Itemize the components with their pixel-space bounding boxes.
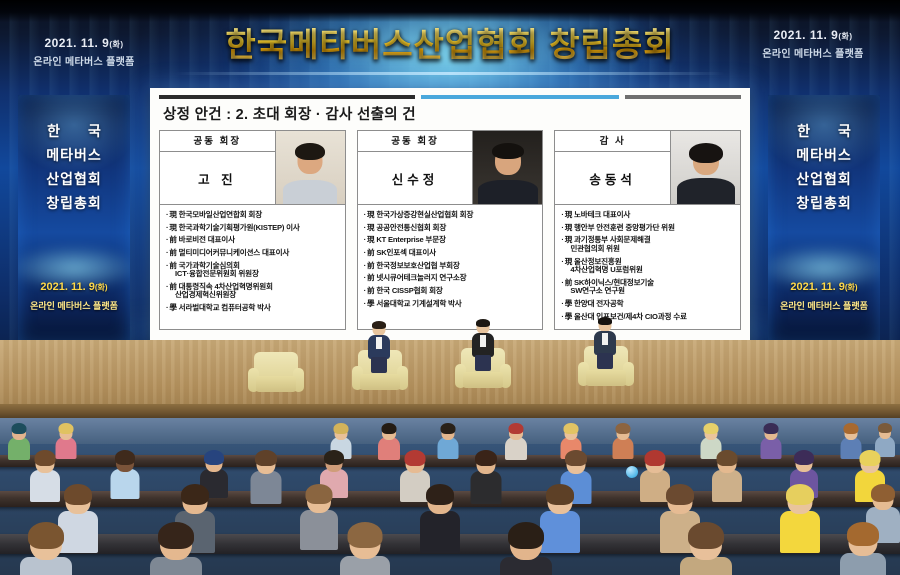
card-bullet-item: ·學 한양대 전자공학 <box>561 300 735 309</box>
card-bullet-item: ·現 KT Enterprise 부문장 <box>364 236 538 245</box>
audience-avatar <box>378 425 400 463</box>
banner-line-4: 창립총회 <box>768 193 880 213</box>
platform-text: 온라인 메타버스 플랫폼 <box>748 45 878 60</box>
banner-line-3: 산업협회 <box>18 169 130 189</box>
banner-line-1: 한 국 <box>768 121 880 141</box>
card-bullet-item: ·前 한국 CISSP협회 회장 <box>364 287 538 296</box>
audience-avatar <box>505 425 527 463</box>
side-banner-right: 한 국 메타버스 산업협회 창립총회 2021. 11. 9(화) 온라인 메타… <box>768 95 880 345</box>
card-bullet-item: ·前 SK하이닉스/현대정보기술SW연구소 연구원 <box>561 279 735 296</box>
stage-panelist-avatar <box>468 320 498 372</box>
card-bullet-item: ·前 넷시큐어테크놀러지 연구소장 <box>364 274 538 283</box>
audience-avatar <box>420 486 460 556</box>
card-bullet-list: ·現 한국가상증강현실산업협회 회장·現 공공안전통신협회 회장·現 KT En… <box>358 205 543 317</box>
card-header: 공동 회장신수정 <box>358 131 543 205</box>
card-portrait-photo <box>275 131 345 204</box>
candidate-card: 감 사송동석·現 노바테크 대표이사·現 행안부 안전훈련 중앙평가단 위원·現… <box>554 130 741 330</box>
audience-avatar <box>8 425 30 463</box>
stage-panelist-avatar <box>590 318 620 370</box>
slide-top-rule <box>159 95 741 99</box>
card-label-block: 공동 회장고 진 <box>160 131 275 204</box>
card-bullet-list: ·現 한국모바일산업연합회 회장·現 한국과학기술기획평가원(KISTEP) 이… <box>160 205 345 321</box>
date-badge-top-left: 2021. 11. 9(화) 온라인 메타버스 플랫폼 <box>24 36 144 68</box>
banner-line-1: 한 국 <box>18 121 130 141</box>
card-bullet-item: ·前 국가과학기술심의회ICT·융합전문위원회 위원장 <box>166 262 340 279</box>
stage-panelist-avatar <box>364 322 394 374</box>
card-person-name: 신수정 <box>358 152 473 204</box>
card-header: 감 사송동석 <box>555 131 740 205</box>
audience-avatar <box>780 486 820 556</box>
audience-avatar <box>20 524 72 575</box>
title-underline <box>175 72 725 75</box>
audience-avatar <box>110 452 139 502</box>
card-person-name: 고 진 <box>160 152 275 204</box>
audience-avatar <box>712 452 742 505</box>
date-text: 2021. 11. 9 <box>44 36 109 50</box>
banner-line-4: 창립총회 <box>18 193 130 213</box>
banner-date: 2021. 11. 9(화) <box>18 281 130 293</box>
banner-line-2: 메타버스 <box>768 145 880 165</box>
card-bullet-item: ·學 서울대학교 기계설계학 박사 <box>364 300 538 309</box>
card-label-block: 공동 회장신수정 <box>358 131 473 204</box>
candidate-card: 공동 회장신수정·現 한국가상증강현실산업협회 회장·現 공공안전통신협회 회장… <box>357 130 544 330</box>
audience-avatar <box>30 452 60 505</box>
card-role: 공동 회장 <box>358 131 473 152</box>
audience-avatar <box>437 425 458 462</box>
page-title: 한국메타버스산업협회 창립총회 <box>180 22 720 68</box>
card-bullet-item: ·現 한국과학기술기획평가원(KISTEP) 이사 <box>166 224 340 233</box>
banner-line-2: 메타버스 <box>18 145 130 165</box>
card-bullet-item: ·前 대통령직속 4차산업혁명위원회산업경제혁신위원장 <box>166 283 340 300</box>
slide-heading: 상정 안건 : 2. 초대 회장 · 감사 선출의 건 <box>163 103 741 124</box>
presentation-slide: 상정 안건 : 2. 초대 회장 · 감사 선출의 건 공동 회장고 진·現 한… <box>150 88 750 350</box>
card-bullet-item: ·現 노바테크 대표이사 <box>561 211 735 220</box>
card-bullet-item: ·現 한국가상증강현실산업협회 회장 <box>364 211 538 220</box>
audience-avatar <box>300 486 338 553</box>
audience-avatar <box>500 524 552 575</box>
card-person-name: 송동석 <box>555 152 670 204</box>
card-bullet-item: ·現 한국모바일산업연합회 회장 <box>166 211 340 220</box>
floating-balloon <box>626 466 638 478</box>
card-role: 공동 회장 <box>160 131 275 152</box>
card-bullet-item: ·現 행안부 안전훈련 중앙평가단 위원 <box>561 224 735 233</box>
card-bullet-item: ·前 한국정보보호산업협 부회장 <box>364 262 538 271</box>
banner-date: 2021. 11. 9(화) <box>768 281 880 293</box>
audience-avatar <box>250 452 281 507</box>
audience-avatar <box>340 524 390 575</box>
card-portrait-photo <box>472 131 542 204</box>
stage-chair <box>248 352 304 394</box>
card-bullet-item: ·前 멀티미디어커뮤니케이션스 대표이사 <box>166 249 340 258</box>
side-banner-left: 한 국 메타버스 산업협회 창립총회 2021. 11. 9(화) 온라인 메타… <box>18 95 130 345</box>
banner-line-3: 산업협회 <box>768 169 880 189</box>
audience-avatar <box>612 425 633 462</box>
date-badge-top-right: 2021. 11. 9(화) 온라인 메타버스 플랫폼 <box>748 28 878 60</box>
candidate-cards: 공동 회장고 진·現 한국모바일산업연합회 회장·現 한국과학기술기획평가원(K… <box>159 130 741 330</box>
card-bullet-item: ·現 울산정보진흥원4차산업혁명 U포럼위원 <box>561 258 735 275</box>
banner-platform: 온라인 메타버스 플랫폼 <box>768 299 880 312</box>
card-label-block: 감 사송동석 <box>555 131 670 204</box>
date-dow: (화) <box>838 32 852 41</box>
card-portrait-photo <box>670 131 740 204</box>
audience-avatar <box>840 524 886 575</box>
audience-avatar <box>470 452 501 507</box>
candidate-card: 공동 회장고 진·現 한국모바일산업연합회 회장·現 한국과학기술기획평가원(K… <box>159 130 346 330</box>
metaverse-conference-scene: 한국메타버스산업협회 창립총회 2021. 11. 9(화) 온라인 메타버스 … <box>0 0 900 575</box>
platform-text: 온라인 메타버스 플랫폼 <box>24 53 144 68</box>
card-bullet-list: ·現 노바테크 대표이사·現 행안부 안전훈련 중앙평가단 위원·現 과기정통부… <box>555 205 740 329</box>
card-bullet-item: ·現 과기정통부 사회문제해결민관협의회 위원 <box>561 236 735 253</box>
card-bullet-item: ·前 SK인포섹 대표이사 <box>364 249 538 258</box>
card-bullet-item: ·現 공공안전통신협회 회장 <box>364 224 538 233</box>
date-dow: (화) <box>109 40 123 49</box>
audience-avatar <box>680 524 732 575</box>
card-role: 감 사 <box>555 131 670 152</box>
audience-avatar <box>150 524 202 575</box>
audience-avatar <box>760 425 781 462</box>
card-bullet-item: ·學 서라벌대학교 컴퓨터공학 박사 <box>166 304 340 313</box>
card-bullet-item: ·學 울산대 인포보건/제4차 CIO과정 수료 <box>561 313 735 322</box>
card-header: 공동 회장고 진 <box>160 131 345 205</box>
card-bullet-item: ·前 바로비전 대표이사 <box>166 236 340 245</box>
date-text: 2021. 11. 9 <box>773 28 838 42</box>
banner-platform: 온라인 메타버스 플랫폼 <box>18 299 130 312</box>
ceiling-shadow <box>0 0 900 22</box>
